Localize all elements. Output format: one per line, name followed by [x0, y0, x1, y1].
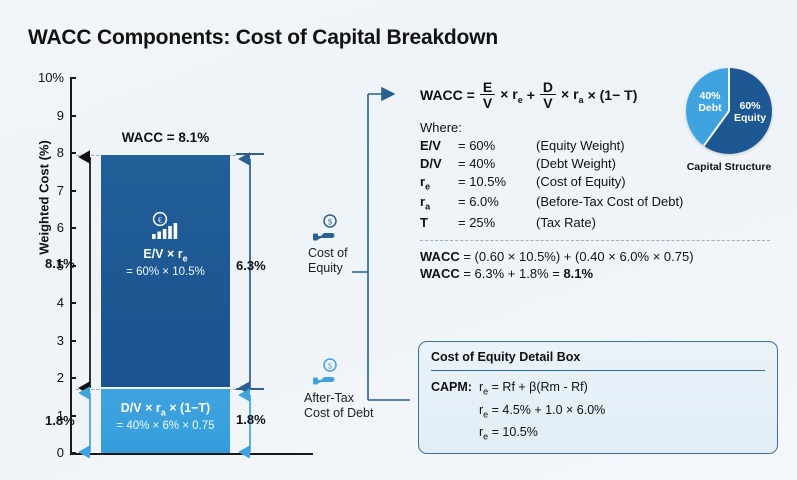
formula-description: (Before-Tax Cost of Debt): [536, 194, 683, 209]
y-tick-label: 2: [6, 370, 64, 385]
cost-of-equity-detail-box: Cost of Equity Detail Box CAPM:re = Rf +…: [418, 341, 778, 454]
wacc-equation-tail: × (1− T): [588, 87, 638, 103]
hand-holding-coin-icon: $: [312, 358, 342, 386]
svg-text:$: $: [328, 361, 332, 371]
formula-symbol: T: [420, 215, 458, 230]
formula-description: (Cost of Equity): [536, 174, 626, 189]
bar-chart-coin-icon: €: [149, 211, 183, 241]
detail-box-line: re = 4.5% + 1.0 × 6.0%: [431, 401, 765, 424]
wacc-equation-plus: +: [527, 87, 535, 103]
y-tick-mark: [70, 302, 76, 304]
fraction-dv-numerator: D: [540, 80, 556, 95]
formula-panel: WACC = E V × re + D V × ra × (1− T) Wher…: [420, 80, 720, 281]
fraction-ev-numerator: E: [480, 80, 495, 95]
detail-line-label: CAPM:: [431, 378, 479, 401]
detail-box-line: re = 10.5%: [431, 423, 765, 446]
page-title: WACC Components: Cost of Capital Breakdo…: [28, 26, 498, 50]
wacc-summary-line-2: WACC = 6.3% + 1.8% = 8.1%: [420, 266, 720, 281]
fraction-dv-denominator: V: [540, 95, 555, 110]
formula-description: (Tax Rate): [536, 215, 596, 230]
formula-variable-rows: E/V= 60%(Equity Weight)D/V= 40%(Debt Wei…: [420, 138, 720, 230]
measure-debt-left-arrow: [78, 386, 102, 458]
formula-value: = 40%: [458, 156, 536, 171]
svg-text:€: €: [158, 215, 162, 224]
y-tick-label: 7: [6, 183, 64, 198]
detail-line-text: re = 10.5%: [479, 423, 538, 446]
wacc-summary-1-value: = (0.60 × 10.5%) + (0.40 × 6.0% × 0.75): [463, 249, 693, 264]
callout-equity-line1: Cost of: [308, 246, 348, 261]
hand-holding-coin-icon: $: [312, 214, 342, 242]
stacked-bar[interactable]: € E/V × re = 60% × 10.5% D/V × ra × (1−T…: [101, 155, 230, 453]
fraction-ev: E V: [480, 80, 495, 111]
y-tick-mark: [70, 227, 76, 229]
pie-slice-equity-label: 60% Equity: [730, 100, 770, 124]
measure-equity-right-label: 6.3%: [236, 258, 266, 273]
y-axis-label: Weighted Cost (%): [37, 118, 52, 278]
bar-equity-detail: = 60% × 10.5%: [101, 266, 230, 278]
bar-segment-debt[interactable]: D/V × ra × (1−T) = 40% × 6% × 0.75: [101, 389, 230, 453]
y-tick-label: 6: [6, 220, 64, 235]
connector-bracket: [352, 82, 412, 412]
formula-row: T= 25%(Tax Rate): [420, 215, 720, 230]
formula-row: E/V= 60%(Equity Weight): [420, 138, 720, 153]
detail-box-lines: CAPM:re = Rf + β(Rm - Rf)re = 4.5% + 1.0…: [431, 378, 765, 446]
detail-box-line: CAPM:re = Rf + β(Rm - Rf): [431, 378, 765, 401]
measure-total-arrow: [78, 150, 102, 395]
y-tick-mark: [70, 77, 76, 79]
fraction-ev-denominator: V: [480, 95, 495, 110]
wacc-equation-lhs: WACC =: [420, 87, 475, 103]
formula-symbol: re: [420, 174, 458, 192]
detail-line-text: re = 4.5% + 1.0 × 6.0%: [479, 401, 605, 424]
y-tick-label: 0: [6, 445, 64, 460]
panel-divider: [420, 240, 770, 241]
y-tick-label: 8: [6, 145, 64, 160]
formula-value: = 25%: [458, 215, 536, 230]
y-tick-label: 3: [6, 333, 64, 348]
measure-debt-right-label: 1.8%: [236, 412, 266, 427]
bar-equity-formula: E/V × re: [101, 247, 230, 264]
formula-row: re= 10.5%(Cost of Equity): [420, 174, 720, 192]
bar-debt-formula-text: D/V × r: [121, 401, 161, 415]
formula-value: = 60%: [458, 138, 536, 153]
callout-equity-line2: Equity: [308, 261, 348, 276]
formula-symbol: E/V: [420, 138, 458, 153]
wacc-equation-op1: × re: [500, 86, 523, 105]
wacc-summary-2-value: = 6.3% + 1.8% =: [463, 266, 563, 281]
formula-description: (Equity Weight): [536, 138, 625, 153]
detail-line-indent: [431, 401, 479, 424]
capital-structure-pie[interactable]: 60% Equity 40% Debt Capital Structure: [679, 68, 779, 173]
measure-debt-left-label: 1.8%: [45, 413, 75, 428]
y-tick-mark: [70, 152, 76, 154]
formula-symbol: ra: [420, 194, 458, 212]
bar-debt-formula-tail: × (1−T): [166, 401, 210, 415]
detail-line-text: re = Rf + β(Rm - Rf): [479, 378, 588, 401]
fraction-dv: D V: [540, 80, 556, 111]
y-tick-mark: [70, 115, 76, 117]
wacc-equation-op2: × ra: [561, 86, 584, 105]
wacc-summary-line-1: WACC = (0.60 × 10.5%) + (0.40 × 6.0% × 0…: [420, 249, 720, 264]
pie-equity-pct: 60%: [730, 100, 770, 112]
y-tick-label: 10%: [6, 70, 64, 85]
pie-caption: Capital Structure: [679, 161, 779, 173]
y-tick-mark: [70, 340, 76, 342]
pie-debt-pct: 40%: [690, 90, 730, 102]
y-tick-mark: [70, 452, 76, 454]
formula-description: (Debt Weight): [536, 156, 616, 171]
measure-total-label: 8.1%: [45, 256, 75, 271]
pie-gap-bottom: [703, 110, 730, 146]
pie-graphic[interactable]: 60% Equity 40% Debt: [686, 68, 772, 154]
bar-equity-formula-sub: e: [183, 254, 188, 264]
callout-cost-of-equity: Cost of Equity: [308, 246, 348, 276]
bar-debt-formula: D/V × ra × (1−T): [101, 401, 230, 418]
where-label: Where:: [420, 120, 720, 135]
y-tick-label: 9: [6, 108, 64, 123]
formula-value: = 10.5%: [458, 174, 536, 189]
formula-value: = 6.0%: [458, 194, 536, 209]
pie-debt-name: Debt: [690, 102, 730, 114]
formula-symbol: D/V: [420, 156, 458, 171]
x-axis-line: [70, 453, 313, 455]
wacc-summary-2-result: 8.1%: [563, 266, 593, 281]
wacc-summary-1-label: WACC: [420, 249, 460, 264]
detail-box-title: Cost of Equity Detail Box: [431, 350, 765, 364]
detail-box-rule: [431, 370, 765, 371]
bar-total-label: WACC = 8.1%: [101, 130, 230, 145]
formula-row: D/V= 40%(Debt Weight): [420, 156, 720, 171]
y-tick-mark: [70, 377, 76, 379]
y-tick-label: 4: [6, 295, 64, 310]
wacc-equation: WACC = E V × re + D V × ra × (1− T): [420, 80, 720, 111]
detail-line-indent: [431, 423, 479, 446]
pie-slice-debt-label: 40% Debt: [690, 90, 730, 114]
bar-segment-equity[interactable]: € E/V × re = 60% × 10.5%: [101, 155, 230, 387]
chart-canvas: WACC Components: Cost of Capital Breakdo…: [0, 0, 797, 480]
pie-equity-name: Equity: [730, 112, 770, 124]
measure-equity-right-arrow: [238, 152, 262, 396]
y-tick-mark: [70, 190, 76, 192]
wacc-summary-2-label: WACC: [420, 266, 460, 281]
bar-debt-detail: = 40% × 6% × 0.75: [101, 420, 230, 432]
formula-row: ra= 6.0%(Before-Tax Cost of Debt): [420, 194, 720, 212]
bar-equity-formula-text: E/V × r: [143, 247, 182, 261]
svg-text:$: $: [328, 217, 332, 227]
